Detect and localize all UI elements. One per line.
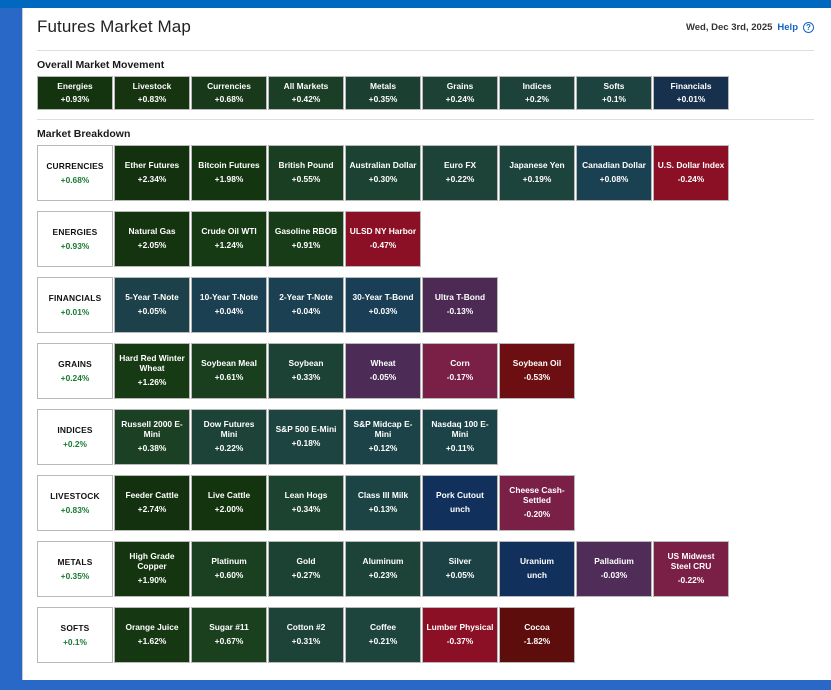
tile-percent: +0.01% xyxy=(677,95,706,105)
tile-name: Currencies xyxy=(207,82,251,92)
tile-name: Gold xyxy=(296,557,315,567)
market-tile-sugar-11[interactable]: Sugar #11+0.67% xyxy=(191,607,267,663)
tile-percent: +0.05% xyxy=(446,571,475,581)
tile-percent: +0.83% xyxy=(138,95,167,105)
tile-name: Uranium xyxy=(520,557,554,567)
category-percent: +0.24% xyxy=(61,373,90,383)
market-tile-class-iii-milk[interactable]: Class III Milk+0.13% xyxy=(345,475,421,531)
category-label-currencies[interactable]: CURRENCIES+0.68% xyxy=(37,145,113,201)
tile-name: Softs xyxy=(604,82,625,92)
tile-percent: +0.12% xyxy=(369,444,398,454)
category-name: INDICES xyxy=(57,425,92,435)
tile-percent: +0.33% xyxy=(292,373,321,383)
tile-name: Feeder Cattle xyxy=(125,491,178,501)
category-label-indices[interactable]: INDICES+0.2% xyxy=(37,409,113,465)
market-tile-s-p-midcap-e-mini[interactable]: S&P Midcap E-Mini+0.12% xyxy=(345,409,421,465)
tile-percent: +0.42% xyxy=(292,95,321,105)
market-tile-british-pound[interactable]: British Pound+0.55% xyxy=(268,145,344,201)
tile-name: US Midwest Steel CRU xyxy=(657,552,725,572)
overall-market-movement-title: Overall Market Movement xyxy=(23,51,828,76)
tile-name: S&P Midcap E-Mini xyxy=(349,420,417,440)
header-meta: Wed, Dec 3rd, 2025 Help ? xyxy=(686,22,814,33)
tile-percent: +0.11% xyxy=(446,444,474,454)
tile-percent: +0.23% xyxy=(369,571,398,581)
tile-percent: +2.74% xyxy=(138,505,167,515)
tile-name: Lean Hogs xyxy=(285,491,328,501)
category-name: METALS xyxy=(57,557,92,567)
tile-name: Energies xyxy=(57,82,92,92)
tile-percent: +0.1% xyxy=(602,95,626,105)
tile-percent: +0.24% xyxy=(446,95,475,105)
tile-name: Crude Oil WTI xyxy=(201,227,256,237)
tile-percent: -0.13% xyxy=(447,307,474,317)
tile-percent: +1.62% xyxy=(138,637,167,647)
tile-name: Silver xyxy=(449,557,472,567)
market-tile-nasdaq-100-e-mini[interactable]: Nasdaq 100 E-Mini+0.11% xyxy=(422,409,498,465)
market-tile-feeder-cattle[interactable]: Feeder Cattle+2.74% xyxy=(114,475,190,531)
tile-name: ULSD NY Harbor xyxy=(350,227,416,237)
tile-percent: +1.90% xyxy=(138,576,167,586)
category-percent: +0.35% xyxy=(61,571,90,581)
tile-percent: +0.08% xyxy=(600,175,629,185)
question-circle-icon[interactable]: ? xyxy=(803,22,814,33)
tile-name: Cocoa xyxy=(524,623,550,633)
tile-name: Canadian Dollar xyxy=(582,161,646,171)
overall-tile-indices[interactable]: Indices+0.2% xyxy=(499,76,575,110)
category-label-grains[interactable]: GRAINS+0.24% xyxy=(37,343,113,399)
tile-name: Cheese Cash-Settled xyxy=(503,486,571,506)
tile-name: Soybean Meal xyxy=(201,359,257,369)
market-tile-gold[interactable]: Gold+0.27% xyxy=(268,541,344,597)
browser-top-bar xyxy=(0,0,831,8)
tile-name: All Markets xyxy=(284,82,329,92)
market-tile-corn[interactable]: Corn-0.17% xyxy=(422,343,498,399)
market-tile-orange-juice[interactable]: Orange Juice+1.62% xyxy=(114,607,190,663)
tile-percent: +0.05% xyxy=(138,307,167,317)
tile-percent: +0.68% xyxy=(215,95,244,105)
market-tile-euro-fx[interactable]: Euro FX+0.22% xyxy=(422,145,498,201)
market-tile-platinum[interactable]: Platinum+0.60% xyxy=(191,541,267,597)
overall-tile-softs[interactable]: Softs+0.1% xyxy=(576,76,652,110)
tile-name: 10-Year T-Note xyxy=(200,293,258,303)
overall-tile-metals[interactable]: Metals+0.35% xyxy=(345,76,421,110)
tile-name: Lumber Physical xyxy=(426,623,493,633)
tile-percent: -0.24% xyxy=(678,175,705,185)
tile-name: Ultra T-Bond xyxy=(435,293,485,303)
tile-name: Orange Juice xyxy=(125,623,178,633)
tile-name: 5-Year T-Note xyxy=(125,293,179,303)
category-label-softs[interactable]: SOFTS+0.1% xyxy=(37,607,113,663)
breakdown-row-grains: GRAINS+0.24%Hard Red Winter Wheat+1.26%S… xyxy=(37,343,814,399)
tile-percent: +0.91% xyxy=(292,241,321,251)
category-name: ENERGIES xyxy=(53,227,98,237)
tile-name: Pork Cutout xyxy=(436,491,484,501)
tile-name: Dow Futures Mini xyxy=(195,420,263,440)
tile-name: Wheat xyxy=(370,359,395,369)
market-tile-10-year-t-note[interactable]: 10-Year T-Note+0.04% xyxy=(191,277,267,333)
tile-name: Bitcoin Futures xyxy=(198,161,259,171)
market-tile-japanese-yen[interactable]: Japanese Yen+0.19% xyxy=(499,145,575,201)
market-tile-soybean-oil[interactable]: Soybean Oil-0.53% xyxy=(499,343,575,399)
market-tile-coffee[interactable]: Coffee+0.21% xyxy=(345,607,421,663)
overall-tile-currencies[interactable]: Currencies+0.68% xyxy=(191,76,267,110)
tile-name: Palladium xyxy=(594,557,634,567)
breakdown-row-financials: FINANCIALS+0.01%5-Year T-Note+0.05%10-Ye… xyxy=(37,277,814,333)
market-tile-2-year-t-note[interactable]: 2-Year T-Note+0.04% xyxy=(268,277,344,333)
tile-name: Corn xyxy=(450,359,470,369)
tile-name: Metals xyxy=(370,82,396,92)
tile-percent: +0.04% xyxy=(215,307,244,317)
breakdown-row-metals: METALS+0.35%High Grade Copper+1.90%Plati… xyxy=(37,541,814,597)
browser-frame: Futures Market Map Wed, Dec 3rd, 2025 He… xyxy=(0,0,831,690)
market-tile-live-cattle[interactable]: Live Cattle+2.00% xyxy=(191,475,267,531)
market-tile-russell-2000-e-mini[interactable]: Russell 2000 E-Mini+0.38% xyxy=(114,409,190,465)
market-tile-s-p-500-e-mini[interactable]: S&P 500 E-Mini+0.18% xyxy=(268,409,344,465)
overall-tile-all-markets[interactable]: All Markets+0.42% xyxy=(268,76,344,110)
tile-name: Financials xyxy=(671,82,712,92)
tile-percent: +0.60% xyxy=(215,571,244,581)
tile-percent: -0.20% xyxy=(524,510,551,520)
category-percent: +0.2% xyxy=(63,439,87,449)
market-tile-cheese-cash-settled[interactable]: Cheese Cash-Settled-0.20% xyxy=(499,475,575,531)
market-tile-bitcoin-futures[interactable]: Bitcoin Futures+1.98% xyxy=(191,145,267,201)
page-viewport: Futures Market Map Wed, Dec 3rd, 2025 He… xyxy=(22,8,831,680)
tile-name: Livestock xyxy=(133,82,172,92)
tile-name: Natural Gas xyxy=(128,227,175,237)
market-tile-ulsd-ny-harbor[interactable]: ULSD NY Harbor-0.47% xyxy=(345,211,421,267)
tile-percent: +0.04% xyxy=(292,307,321,317)
category-name: LIVESTOCK xyxy=(50,491,100,501)
breakdown-row-currencies: CURRENCIES+0.68%Ether Futures+2.34%Bitco… xyxy=(37,145,814,201)
tile-percent: +0.55% xyxy=(292,175,321,185)
tile-percent: -0.47% xyxy=(370,241,397,251)
tile-percent: +0.22% xyxy=(215,444,244,454)
tile-name: Russell 2000 E-Mini xyxy=(118,420,186,440)
category-percent: +0.1% xyxy=(63,637,87,647)
tile-percent: +0.13% xyxy=(369,505,398,515)
market-tile-us-midwest-steel-cru[interactable]: US Midwest Steel CRU-0.22% xyxy=(653,541,729,597)
tile-name: Class III Milk xyxy=(358,491,408,501)
category-label-livestock[interactable]: LIVESTOCK+0.83% xyxy=(37,475,113,531)
tile-name: High Grade Copper xyxy=(118,552,186,572)
tile-percent: +0.35% xyxy=(369,95,398,105)
breakdown-row-indices: INDICES+0.2%Russell 2000 E-Mini+0.38%Dow… xyxy=(37,409,814,465)
tile-percent: +0.27% xyxy=(292,571,321,581)
breakdown-row-softs: SOFTS+0.1%Orange Juice+1.62%Sugar #11+0.… xyxy=(37,607,814,663)
category-label-energies[interactable]: ENERGIES+0.93% xyxy=(37,211,113,267)
page-content: Futures Market Map Wed, Dec 3rd, 2025 He… xyxy=(22,8,828,680)
tile-name: Indices xyxy=(523,82,552,92)
category-name: SOFTS xyxy=(61,623,90,633)
market-tile-lumber-physical[interactable]: Lumber Physical-0.37% xyxy=(422,607,498,663)
market-tile-uranium[interactable]: Uraniumunch xyxy=(499,541,575,597)
tile-name: Soybean Oil xyxy=(513,359,561,369)
tile-percent: -0.37% xyxy=(447,637,474,647)
tile-name: Grains xyxy=(447,82,474,92)
tile-percent: +0.38% xyxy=(138,444,167,454)
market-breakdown-title: Market Breakdown xyxy=(23,120,828,145)
tile-percent: +2.00% xyxy=(215,505,244,515)
market-tile-ether-futures[interactable]: Ether Futures+2.34% xyxy=(114,145,190,201)
tile-percent: +0.67% xyxy=(215,637,244,647)
category-name: FINANCIALS xyxy=(49,293,102,303)
tile-percent: +0.34% xyxy=(292,505,321,515)
tile-name: Soybean xyxy=(289,359,324,369)
tile-name: Gasoline RBOB xyxy=(275,227,337,237)
tile-percent: -0.17% xyxy=(447,373,474,383)
market-tile-soybean-meal[interactable]: Soybean Meal+0.61% xyxy=(191,343,267,399)
market-tile-natural-gas[interactable]: Natural Gas+2.05% xyxy=(114,211,190,267)
tile-name: U.S. Dollar Index xyxy=(658,161,725,171)
tile-percent: -0.05% xyxy=(370,373,397,383)
market-tile-cocoa[interactable]: Cocoa-1.82% xyxy=(499,607,575,663)
market-tile-u-s-dollar-index[interactable]: U.S. Dollar Index-0.24% xyxy=(653,145,729,201)
tile-percent: +0.61% xyxy=(215,373,244,383)
overall-market-movement-section: Energies+0.93%Livestock+0.83%Currencies+… xyxy=(23,76,828,110)
tile-name: 2-Year T-Note xyxy=(279,293,333,303)
page-header: Futures Market Map Wed, Dec 3rd, 2025 He… xyxy=(23,8,828,44)
category-label-metals[interactable]: METALS+0.35% xyxy=(37,541,113,597)
tile-name: Japanese Yen xyxy=(509,161,564,171)
market-tile-cotton-2[interactable]: Cotton #2+0.31% xyxy=(268,607,344,663)
market-tile-palladium[interactable]: Palladium-0.03% xyxy=(576,541,652,597)
category-label-financials[interactable]: FINANCIALS+0.01% xyxy=(37,277,113,333)
tile-name: Cotton #2 xyxy=(287,623,326,633)
market-tile-pork-cutout[interactable]: Pork Cutoutunch xyxy=(422,475,498,531)
market-tile-wheat[interactable]: Wheat-0.05% xyxy=(345,343,421,399)
tile-name: British Pound xyxy=(279,161,334,171)
market-tile-crude-oil-wti[interactable]: Crude Oil WTI+1.24% xyxy=(191,211,267,267)
tile-percent: +0.03% xyxy=(369,307,398,317)
breakdown-row-energies: ENERGIES+0.93%Natural Gas+2.05%Crude Oil… xyxy=(37,211,814,267)
tile-percent: +0.2% xyxy=(525,95,549,105)
tile-percent: -1.82% xyxy=(524,637,551,647)
tile-name: 30-Year T-Bond xyxy=(353,293,414,303)
tile-percent: -0.53% xyxy=(524,373,551,383)
tile-percent: +1.26% xyxy=(138,378,167,388)
tile-percent: +0.93% xyxy=(61,95,90,105)
tile-percent: -0.22% xyxy=(678,576,705,586)
tile-name: Sugar #11 xyxy=(209,623,249,633)
category-percent: +0.01% xyxy=(61,307,90,317)
tile-percent: +1.24% xyxy=(215,241,244,251)
market-tile-silver[interactable]: Silver+0.05% xyxy=(422,541,498,597)
overall-tile-grains[interactable]: Grains+0.24% xyxy=(422,76,498,110)
help-link[interactable]: Help xyxy=(777,22,798,33)
category-percent: +0.68% xyxy=(61,175,90,185)
market-tile-hard-red-winter-wheat[interactable]: Hard Red Winter Wheat+1.26% xyxy=(114,343,190,399)
market-tile-5-year-t-note[interactable]: 5-Year T-Note+0.05% xyxy=(114,277,190,333)
market-tile-soybean[interactable]: Soybean+0.33% xyxy=(268,343,344,399)
tile-percent: unch xyxy=(450,505,470,515)
tile-percent: +1.98% xyxy=(215,175,244,185)
tile-percent: -0.03% xyxy=(601,571,628,581)
category-percent: +0.83% xyxy=(61,505,90,515)
overall-tile-livestock[interactable]: Livestock+0.83% xyxy=(114,76,190,110)
tile-name: Euro FX xyxy=(444,161,476,171)
tile-percent: +0.30% xyxy=(369,175,398,185)
tile-percent: unch xyxy=(527,571,547,581)
tile-name: Australian Dollar xyxy=(349,161,416,171)
tile-percent: +0.21% xyxy=(369,637,398,647)
tile-name: Ether Futures xyxy=(125,161,179,171)
current-date: Wed, Dec 3rd, 2025 xyxy=(686,22,772,33)
market-breakdown-section: CURRENCIES+0.68%Ether Futures+2.34%Bitco… xyxy=(23,145,828,663)
category-percent: +0.93% xyxy=(61,241,90,251)
market-tile-lean-hogs[interactable]: Lean Hogs+0.34% xyxy=(268,475,344,531)
tile-percent: +2.05% xyxy=(138,241,167,251)
overall-tile-financials[interactable]: Financials+0.01% xyxy=(653,76,729,110)
market-tile-ultra-t-bond[interactable]: Ultra T-Bond-0.13% xyxy=(422,277,498,333)
tile-name: Platinum xyxy=(211,557,246,567)
market-tile-canadian-dollar[interactable]: Canadian Dollar+0.08% xyxy=(576,145,652,201)
overall-market-row: Energies+0.93%Livestock+0.83%Currencies+… xyxy=(37,76,814,110)
market-tile-australian-dollar[interactable]: Australian Dollar+0.30% xyxy=(345,145,421,201)
tile-name: Hard Red Winter Wheat xyxy=(118,354,186,374)
tile-name: Live Cattle xyxy=(208,491,250,501)
tile-name: S&P 500 E-Mini xyxy=(276,425,337,435)
tile-name: Aluminum xyxy=(363,557,404,567)
market-tile-dow-futures-mini[interactable]: Dow Futures Mini+0.22% xyxy=(191,409,267,465)
tile-percent: +0.19% xyxy=(523,175,552,185)
tile-name: Coffee xyxy=(370,623,396,633)
overall-tile-energies[interactable]: Energies+0.93% xyxy=(37,76,113,110)
category-name: CURRENCIES xyxy=(46,161,103,171)
tile-percent: +0.22% xyxy=(446,175,475,185)
tile-percent: +0.31% xyxy=(292,637,321,647)
tile-percent: +0.18% xyxy=(292,439,321,449)
breakdown-row-livestock: LIVESTOCK+0.83%Feeder Cattle+2.74%Live C… xyxy=(37,475,814,531)
market-tile-gasoline-rbob[interactable]: Gasoline RBOB+0.91% xyxy=(268,211,344,267)
market-tile-30-year-t-bond[interactable]: 30-Year T-Bond+0.03% xyxy=(345,277,421,333)
tile-name: Nasdaq 100 E-Mini xyxy=(426,420,494,440)
category-name: GRAINS xyxy=(58,359,92,369)
market-tile-high-grade-copper[interactable]: High Grade Copper+1.90% xyxy=(114,541,190,597)
market-tile-aluminum[interactable]: Aluminum+0.23% xyxy=(345,541,421,597)
tile-percent: +2.34% xyxy=(138,175,167,185)
